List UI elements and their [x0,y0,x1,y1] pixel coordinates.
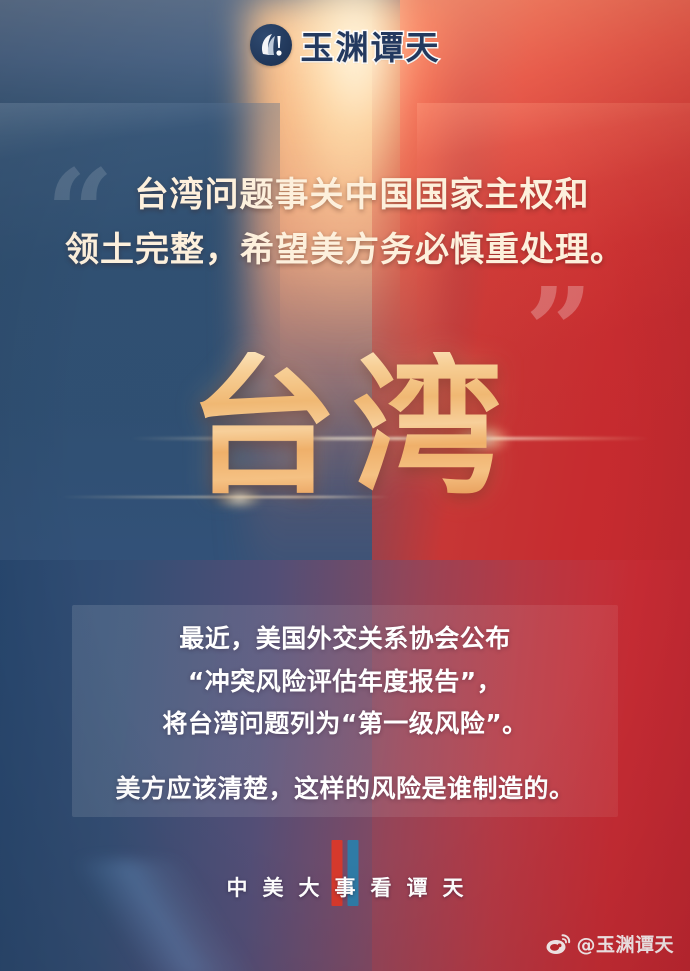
body-paragraph1-line2: “冲突风险评估年度报告”， [0,661,690,704]
poster-root: 玉渊谭天 “ ” 台湾问题事关中国国家主权和 领土完整，希望美方务必慎重处理。 … [0,0,690,971]
brand-header: 玉渊谭天 [0,18,690,72]
footer-tagline: 中美大事看谭天 [0,872,690,902]
headline-taiwan: 台湾 [0,352,690,502]
brand-name: 玉渊谭天 [301,21,441,69]
quote-line-1: 台湾问题事关中国国家主权和 [26,168,664,223]
body-paragraph2-line1: 美方应该清楚，这样的风险是谁制造的。 [0,768,690,811]
weibo-watermark: @玉渊谭天 [545,930,674,957]
yuyuantantian-wave-logo-icon [250,24,292,66]
body-paragraph1-line3: 将台湾问题列为“第一级风险”。 [0,703,690,746]
quote-lines: 台湾问题事关中国国家主权和 领土完整，希望美方务必慎重处理。 [0,168,690,278]
quote-block: “ ” 台湾问题事关中国国家主权和 领土完整，希望美方务必慎重处理。 [0,168,690,328]
body-paragraph1-line1: 最近，美国外交关系协会公布 [0,618,690,661]
body-paragraph-spacer [0,746,690,768]
weibo-icon [545,933,571,955]
body-text: 最近，美国外交关系协会公布 “冲突风险评估年度报告”， 将台湾问题列为“第一级风… [0,618,690,810]
weibo-handle: @玉渊谭天 [576,930,674,957]
quote-line-2: 领土完整，希望美方务必慎重处理。 [26,223,664,278]
